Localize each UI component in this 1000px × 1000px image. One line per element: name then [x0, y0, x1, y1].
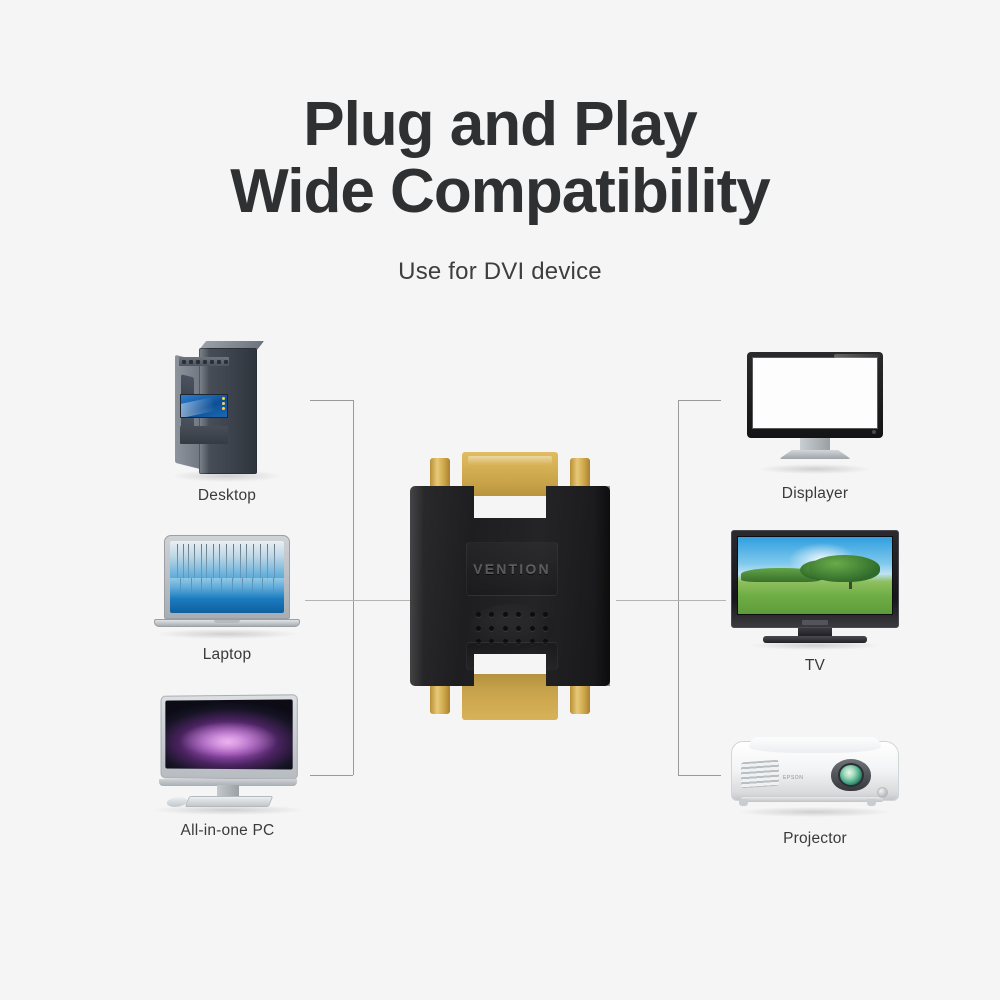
projector-base-rail — [741, 797, 883, 802]
device-label-all-in-one-pc: All-in-one PC — [140, 822, 315, 840]
tower-leds — [222, 397, 225, 410]
projector-focus-knob — [877, 787, 888, 798]
dvi-adapter-product: VENTION — [410, 452, 610, 720]
tv-stand-foot — [763, 636, 867, 643]
adapter-dot-row — [476, 626, 548, 631]
television-icon — [731, 530, 899, 644]
adapter-brand-plate: VENTION — [466, 542, 558, 596]
left-bracket-spine — [353, 400, 354, 775]
device-projector: EPSON Projector — [727, 735, 903, 848]
left-branch-laptop — [305, 600, 415, 601]
device-label-desktop: Desktop — [142, 487, 312, 505]
monitor-shadow — [759, 464, 871, 474]
adapter-dot-row — [476, 612, 548, 617]
device-laptop: Laptop — [142, 535, 312, 664]
marketing-banner: Plug and Play Wide Compatibility Use for… — [0, 0, 1000, 1000]
page-title: Plug and Play Wide Compatibility — [0, 92, 1000, 226]
adapter-connector-top — [462, 452, 558, 496]
projector-vent — [741, 760, 779, 789]
device-all-in-one-pc: All-in-one PC — [140, 695, 315, 840]
monitor-icon — [747, 352, 883, 462]
laptop-notch — [214, 620, 240, 623]
left-branch-desktop — [310, 400, 353, 401]
title-line-1: Plug and Play — [303, 90, 697, 159]
right-branch-tv — [616, 600, 726, 601]
page-subtitle: Use for DVI device — [0, 258, 1000, 286]
tower-lcd-screen — [180, 394, 228, 418]
monitor-screen — [752, 357, 878, 429]
tv-screen — [737, 536, 893, 615]
device-label-laptop: Laptop — [142, 646, 312, 664]
tv-brand-strip — [802, 620, 828, 625]
device-label-displayer: Displayer — [740, 485, 890, 503]
projector-brand-label: EPSON — [783, 775, 804, 781]
projector-foot-right — [867, 799, 876, 806]
device-desktop: Desktop — [142, 348, 312, 505]
projector-top-face — [749, 737, 881, 753]
right-branch-projector — [678, 775, 721, 776]
left-branch-all-in-one — [310, 775, 353, 776]
adapter-housing: VENTION — [410, 486, 610, 686]
laptop-wallpaper-reflection — [170, 578, 284, 613]
aio-screen — [165, 699, 292, 769]
monitor-stand-foot — [779, 450, 851, 459]
laptop-icon — [154, 535, 300, 635]
projector-foot-left — [739, 799, 748, 806]
right-bracket-spine — [678, 400, 679, 775]
right-branch-displayer — [678, 400, 721, 401]
projector-icon: EPSON — [727, 735, 903, 817]
monitor-stand-neck — [800, 438, 830, 452]
device-displayer: Displayer — [740, 352, 890, 503]
monitor-power-led — [872, 430, 876, 434]
aio-keyboard — [184, 796, 272, 807]
tower-lower-panel — [180, 426, 228, 444]
laptop-lid — [164, 535, 290, 619]
aio-display — [160, 694, 297, 779]
tower-drive-bay — [179, 357, 229, 366]
monitor-bezel — [747, 352, 883, 438]
adapter-connector-bottom — [462, 674, 558, 720]
tv-bezel — [731, 530, 899, 628]
device-label-tv: TV — [730, 657, 900, 675]
adapter-lower-slot — [466, 642, 558, 670]
desktop-tower-icon — [175, 348, 279, 474]
laptop-screen — [170, 541, 284, 613]
tv-image-tree-canopy — [809, 555, 880, 581]
device-label-projector: Projector — [727, 830, 903, 848]
adapter-dot-grid — [476, 612, 548, 644]
device-tv: TV — [730, 530, 900, 675]
adapter-brand-text: VENTION — [467, 561, 557, 577]
title-line-2: Wide Compatibility — [0, 159, 1000, 226]
projector-lens — [838, 763, 864, 787]
all-in-one-pc-icon — [153, 695, 303, 813]
